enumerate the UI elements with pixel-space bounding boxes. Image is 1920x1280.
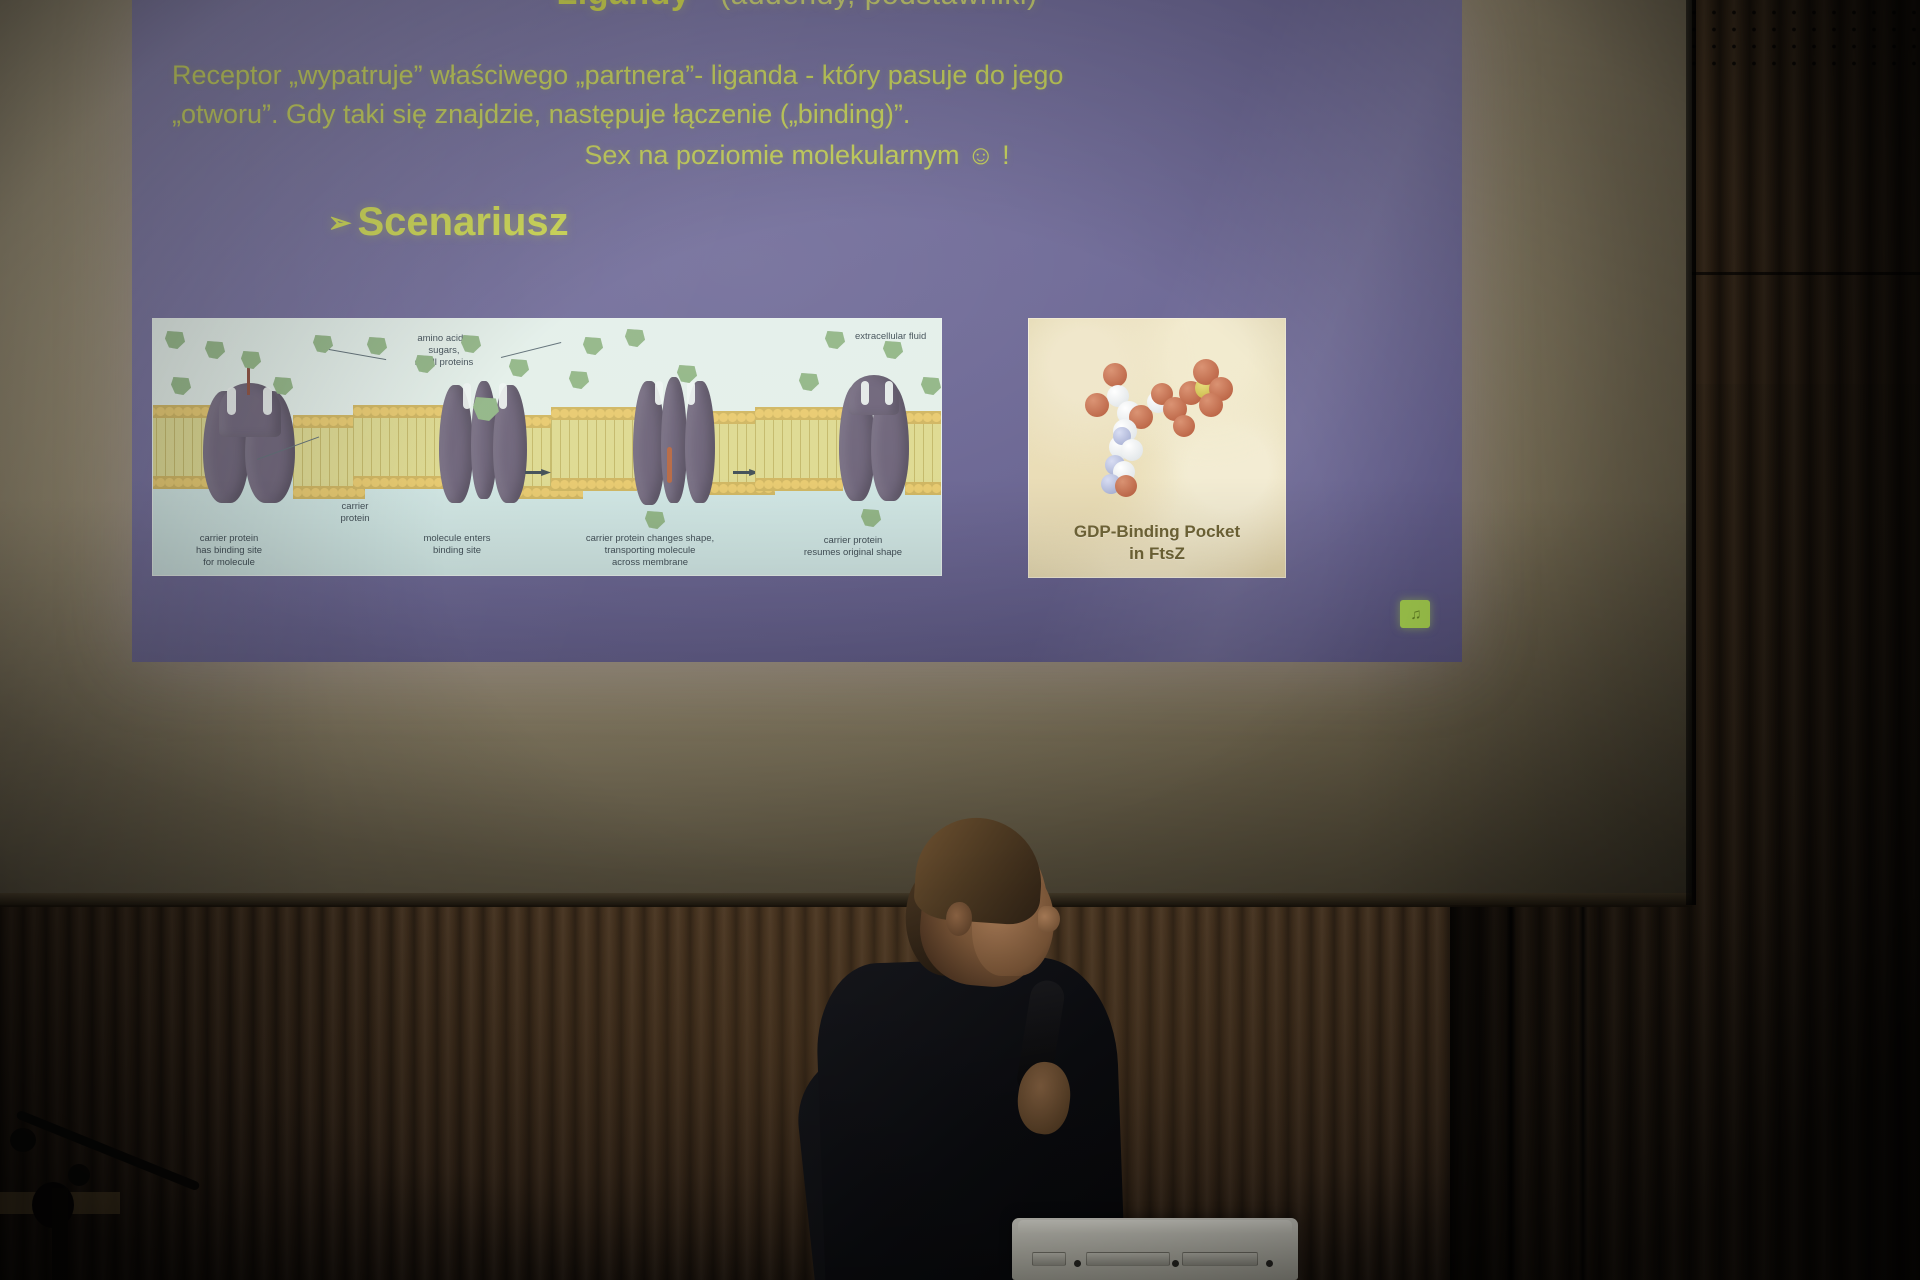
- projector-indicator: [1074, 1260, 1081, 1267]
- projector-top-surface: [1018, 1220, 1292, 1233]
- gdp-binding-pocket-figure: GDP-Binding Pocket in FtsZ: [1028, 318, 1286, 578]
- ligand-icon: [569, 371, 589, 389]
- carrier-protein-diagram: carrier protein carrier protein has bind…: [152, 318, 942, 576]
- slide-paragraph: Receptor „wypatruje” właściwego „partner…: [172, 56, 1422, 175]
- arrow-bullet-icon: ➢: [328, 209, 351, 237]
- ligand-icon: [241, 351, 261, 369]
- caption-panel-2: molecule enters binding site: [383, 533, 531, 557]
- presenter-hair: [913, 814, 1046, 927]
- carrier-protein-blob: [661, 377, 687, 503]
- ligand-icon: [861, 509, 881, 527]
- released-ligand-icon: [645, 511, 665, 529]
- carrier-panel-4: extracellular fluid carrier protein resu…: [753, 319, 942, 575]
- slide-paragraph-line-1: Receptor „wypatruje” właściwego „partner…: [172, 60, 1063, 90]
- slide-title-rest: (addendy, podstawniki): [720, 0, 1037, 11]
- projector-port: [1086, 1252, 1170, 1266]
- oxygen-atom: [1199, 393, 1223, 417]
- label-extracellular-fluid: extracellular fluid: [855, 331, 942, 343]
- presenter-nose: [1038, 906, 1060, 932]
- white-projector-device: [1012, 1218, 1298, 1280]
- carbon-atom: [1121, 439, 1143, 461]
- projector-port: [1032, 1252, 1066, 1266]
- ligand-icon: [367, 337, 387, 355]
- oxygen-atom: [1103, 363, 1127, 387]
- projector-indicator: [1266, 1260, 1273, 1267]
- binding-site-notch: [687, 381, 695, 405]
- slide-paragraph-line-2: „otworu”. Gdy taki się znajdzie, następu…: [172, 99, 910, 129]
- media-sound-icon[interactable]: ♫: [1400, 600, 1430, 628]
- microphone-stand-pole: [52, 1188, 68, 1280]
- screen-right-edge: [1686, 0, 1696, 905]
- oxygen-atom: [1115, 475, 1137, 497]
- transport-channel: [667, 447, 672, 483]
- binding-site-notch: [263, 387, 272, 415]
- ligand-icon: [799, 373, 819, 391]
- ligand-icon: [921, 377, 941, 395]
- projector-indicator: [1172, 1260, 1179, 1267]
- lipid-bilayer: [353, 405, 445, 489]
- ligand-icon: [825, 331, 845, 349]
- carrier-panel-1: carrier protein carrier protein has bind…: [153, 319, 349, 575]
- binding-funnel: [247, 367, 250, 395]
- ligand-icon: [461, 335, 481, 353]
- slide-bullet-scenariusz: ➢ Scenariusz: [328, 200, 569, 245]
- lipid-bilayer: [905, 411, 942, 495]
- ligand-icon: [171, 377, 191, 395]
- binding-site-notch: [885, 381, 893, 405]
- slide-bullet-label: Scenariusz: [357, 200, 568, 245]
- caption-panel-3: carrier protein changes shape, transport…: [555, 533, 745, 569]
- oxygen-atom: [1173, 415, 1195, 437]
- binding-site-notch: [655, 381, 663, 405]
- carrier-panel-3: carrier protein changes shape, transport…: [549, 319, 749, 575]
- ligand-icon: [205, 341, 225, 359]
- slide-title: Ligandy (addendy, podstawniki): [132, 0, 1462, 13]
- lipid-bilayer: [551, 407, 637, 491]
- ligand-icon: [583, 337, 603, 355]
- gdp-figure-caption: GDP-Binding Pocket in FtsZ: [1029, 521, 1285, 565]
- carrier-panel-2: molecule enters binding site: [353, 319, 549, 575]
- microphone-stand-knob: [10, 1128, 36, 1152]
- binding-site-notch: [499, 383, 507, 409]
- ligand-icon: [415, 355, 435, 373]
- ligand-icon: [677, 365, 697, 383]
- ligand-icon: [509, 359, 529, 377]
- caption-panel-1: carrier protein has binding site for mol…: [155, 533, 303, 569]
- presenter: [860, 810, 1160, 1280]
- projected-slide: Ligandy (addendy, podstawniki) Receptor …: [132, 0, 1462, 662]
- binding-site-notch: [861, 381, 869, 405]
- slide-title-bold: Ligandy: [557, 0, 691, 12]
- binding-site-notch: [227, 387, 236, 415]
- caption-panel-4: carrier protein resumes original shape: [765, 535, 941, 559]
- binding-site-notch: [463, 383, 471, 409]
- projector-port: [1182, 1252, 1258, 1266]
- microphone-stand-knob: [68, 1164, 90, 1186]
- lecture-hall-scene: Ligandy (addendy, podstawniki) Receptor …: [0, 0, 1920, 1280]
- ligand-icon: [883, 341, 903, 359]
- ligand-icon: [625, 329, 645, 347]
- ligand-icon: [165, 331, 185, 349]
- lipid-bilayer: [755, 407, 843, 491]
- screen-bottom-edge: [0, 893, 1692, 907]
- oxygen-atom: [1085, 393, 1109, 417]
- slide-paragraph-line-3: Sex na poziomie molekularnym ☺ !: [172, 136, 1422, 175]
